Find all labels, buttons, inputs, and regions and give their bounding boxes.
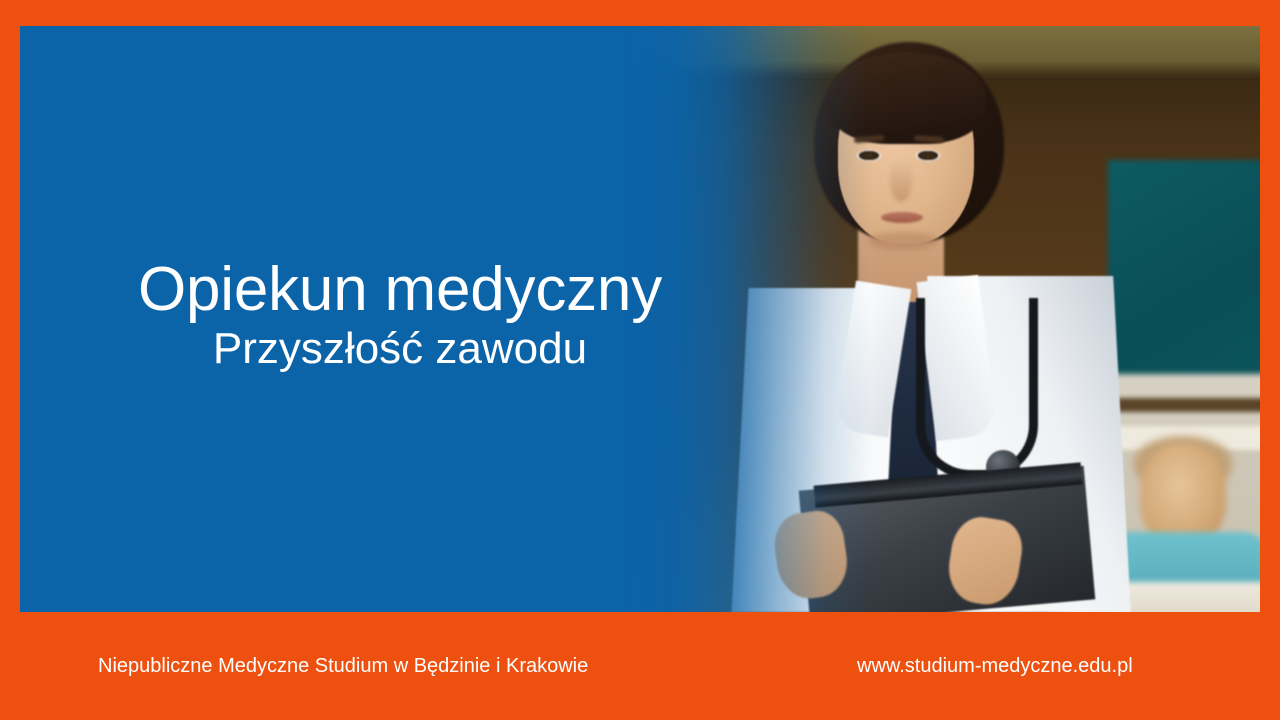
caregiver-chin-shadow [868, 232, 938, 250]
title-block: Opiekun medyczny Przyszłość zawodu [20, 258, 780, 372]
stethoscope-icon [916, 298, 1038, 479]
title-slide: Opiekun medyczny Przyszłość zawodu Niepu… [0, 0, 1280, 720]
slide-title: Opiekun medyczny [20, 258, 780, 322]
slide-footer: Niepubliczne Medyczne Studium w Będzinie… [0, 612, 1280, 720]
caregiver-eye-right [916, 150, 940, 161]
caregiver-nose [890, 160, 912, 202]
footer-website[interactable]: www.studium-medyczne.edu.pl [857, 655, 1133, 678]
slide-subtitle: Przyszłość zawodu [20, 326, 780, 372]
caregiver-mouth [881, 212, 923, 223]
footer-organization: Niepubliczne Medyczne Studium w Będzinie… [98, 655, 588, 678]
slide-content-panel: Opiekun medyczny Przyszłość zawodu [20, 26, 1260, 612]
